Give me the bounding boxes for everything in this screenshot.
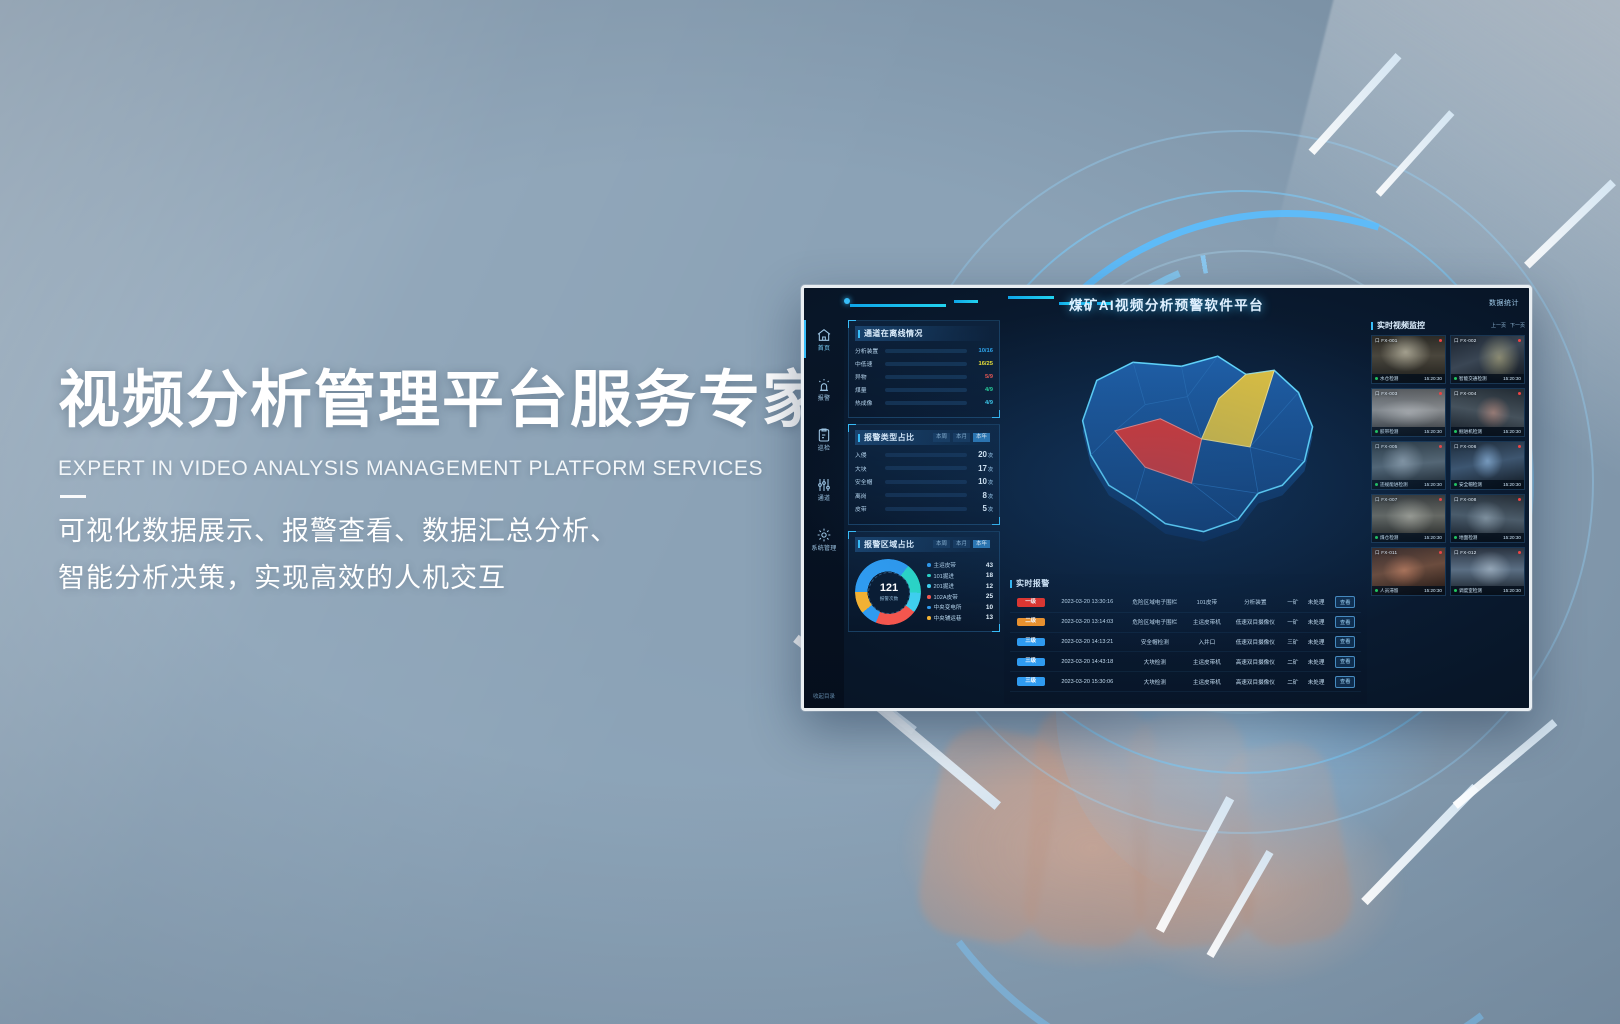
record-indicator-icon: [1439, 339, 1442, 342]
video-timestamp: 15:20:30: [1424, 376, 1442, 381]
alarm-type-track: [885, 480, 967, 484]
dashboard-topbar: 煤矿AI视频分析预警软件平台 数据统计: [804, 288, 1529, 316]
record-indicator-icon: [1439, 392, 1442, 395]
video-tile[interactable]: 口 FX-011人员滞留15:20:30: [1371, 547, 1446, 596]
alarm-type-row: 入侵20次: [855, 450, 993, 459]
video-name-wrap: 水仓检测: [1375, 376, 1398, 382]
video-name-wrap: 地面检测: [1454, 535, 1477, 541]
alarm-area: 主运皮带机: [1186, 672, 1227, 692]
alarm-type-track: [885, 507, 967, 511]
type-panel-tabs: 本周本月本年: [933, 433, 990, 442]
channel-row: 热成像4/9: [855, 398, 993, 407]
donut-legend-item: 102A皮带25: [927, 593, 993, 601]
alarm-status: 未处理: [1303, 593, 1330, 612]
channel-value: 4/9: [971, 387, 993, 393]
sidebar-item-1[interactable]: 报警: [804, 364, 844, 414]
video-name: 违规能进检测: [1380, 482, 1408, 488]
alarm-type-name: 大块: [855, 464, 881, 473]
video-footer: 水仓检测15:20:30: [1372, 374, 1445, 383]
alarm-type: 安全帽检测: [1123, 632, 1186, 652]
video-panel-title-wrap: 实时视频监控: [1371, 320, 1425, 331]
sidebar-item-label: 报警: [818, 396, 831, 402]
channel-panel-title: 通道在离线情况: [864, 328, 923, 339]
online-status-dot: [1375, 536, 1378, 539]
table-row: 一级2023-03-20 13:30:16危险区域电子围栏101皮带分析装置一矿…: [1010, 593, 1361, 612]
area-panel-tabs: 本周本月本年: [933, 540, 990, 549]
donut-center-caption: 报警次数: [880, 596, 898, 602]
alarm-level-badge: 三级: [1010, 632, 1051, 652]
dashboard-screen: 煤矿AI视频分析预警软件平台 数据统计 首页报警巡检通道系统管理 通道在离线情况…: [804, 288, 1529, 708]
video-timestamp: 15:20:30: [1503, 588, 1521, 593]
unit-label: 次: [988, 494, 993, 500]
view-button[interactable]: 查看: [1335, 616, 1355, 628]
title-bar-icon: [858, 540, 860, 548]
alarm-action[interactable]: 查看: [1330, 612, 1362, 632]
legend-color-dot: [927, 606, 931, 610]
alarm-type: 危险区域电子围栏: [1123, 612, 1186, 632]
donut-chart-wrap: 121 报警次数 主运皮带43101掘进18201掘进12102A皮带25中央变…: [855, 557, 993, 625]
online-status-dot: [1375, 589, 1378, 592]
donut-chart: 121 报警次数: [855, 559, 921, 625]
alarm-mine: 二矿: [1283, 652, 1303, 672]
record-indicator-icon: [1518, 339, 1521, 342]
donut-legend-item: 主运皮带43: [927, 561, 993, 569]
video-tile[interactable]: 口 FX-006安全帽检测15:20:30: [1450, 441, 1525, 490]
video-timestamp: 15:20:30: [1424, 588, 1442, 593]
video-id: 口 FX-008: [1454, 497, 1477, 503]
unit-label: 次: [988, 480, 993, 486]
table-row: 三级2023-03-20 14:13:21安全帽检测入井口低速双目摄像仪三矿未处…: [1010, 632, 1361, 652]
video-tile[interactable]: 口 FX-008地面检测15:20:30: [1450, 494, 1525, 543]
online-status-dot: [1454, 430, 1457, 433]
status-badge: 三级: [1017, 677, 1045, 685]
sidebar-item-label: 首页: [818, 346, 831, 352]
status-badge: 三级: [1017, 638, 1045, 646]
video-tile[interactable]: 口 FX-005违规能进检测15:20:30: [1371, 441, 1446, 490]
sliders-icon: [816, 477, 832, 493]
online-status-dot: [1454, 377, 1457, 380]
video-name-wrap: 调度室检测: [1454, 588, 1482, 594]
channel-bar-track: [885, 349, 967, 353]
video-footer: 安全帽检测15:20:30: [1451, 480, 1524, 489]
alarm-type-name: 安全帽: [855, 477, 881, 486]
channel-row: 分析装置10/16: [855, 346, 993, 355]
alarm-type-track: [885, 493, 967, 497]
alarm-mine: 二矿: [1283, 672, 1303, 692]
video-monitor-panel: 实时视频监控 上一页 下一页 口 FX-001水仓检测15:20:30口 FX-…: [1371, 320, 1525, 704]
channel-name: 分析装置: [855, 346, 881, 355]
channel-name: 异物: [855, 372, 881, 381]
video-timestamp: 15:20:30: [1424, 429, 1442, 434]
type-tab-2[interactable]: 本年: [973, 433, 990, 442]
alarm-status: 未处理: [1303, 672, 1330, 692]
record-indicator-icon: [1439, 498, 1442, 501]
video-tile[interactable]: 口 FX-002智能交通检测15:20:30: [1450, 335, 1525, 384]
alarm-area: 主运皮带机: [1186, 652, 1227, 672]
video-name-wrap: 智能交通检测: [1454, 376, 1487, 382]
title-bar-icon: [1010, 580, 1012, 588]
topbar-right-label[interactable]: 数据统计: [1489, 298, 1519, 308]
alarm-level-badge: 二级: [1010, 612, 1051, 632]
unit-label: 次: [988, 467, 993, 473]
type-tab-1[interactable]: 本月: [953, 433, 970, 442]
legend-color-dot: [927, 616, 931, 620]
video-name: 煤仓检测: [1380, 535, 1398, 541]
record-indicator-icon: [1518, 551, 1521, 554]
channel-value: 10/16: [971, 348, 993, 354]
alarm-action[interactable]: 查看: [1330, 672, 1362, 692]
alarm-type: 大块检测: [1123, 672, 1186, 692]
legend-color-dot: [927, 563, 931, 567]
donut-legend-item: 中央变电所10: [927, 603, 993, 611]
panel-header: 报警类型占比 本周本月本年: [855, 430, 993, 445]
channel-bar-track: [885, 388, 967, 392]
video-name-wrap: 人员滞留: [1375, 588, 1398, 594]
alarm-area: 入井口: [1186, 632, 1227, 652]
type-panel-title-wrap: 报警类型占比: [858, 432, 914, 443]
channel-bar-track: [885, 362, 967, 366]
alarm-time: 2023-03-20 14:43:18: [1051, 652, 1123, 672]
channel-bar-track: [885, 401, 967, 405]
video-timestamp: 15:20:30: [1503, 376, 1521, 381]
video-footer: 智能交通检测15:20:30: [1451, 374, 1524, 383]
video-footer: 掘进机检测15:20:30: [1451, 427, 1524, 436]
sidebar: 首页报警巡检通道系统管理: [804, 314, 844, 708]
alarm-type-name: 皮带: [855, 504, 881, 513]
panel-header: 报警区域占比 本周本月本年: [855, 537, 993, 552]
legend-value: 25: [986, 593, 993, 600]
video-name-wrap: 煤仓检测: [1375, 535, 1398, 541]
legend-value: 12: [986, 583, 993, 590]
app-title: 煤矿AI视频分析预警软件平台: [804, 294, 1529, 314]
legend-value: 13: [986, 614, 993, 621]
video-tile[interactable]: 口 FX-003胶带检测15:20:30: [1371, 388, 1446, 437]
donut-legend-item: 101掘进18: [927, 572, 993, 580]
donut-legend-item: 中央辅运巷13: [927, 614, 993, 622]
video-id: 口 FX-007: [1375, 497, 1398, 503]
unit-label: 次: [988, 507, 993, 513]
sidebar-item-3[interactable]: 通道: [804, 464, 844, 514]
legend-label: 102A皮带: [934, 593, 983, 601]
online-status-dot: [1454, 589, 1457, 592]
alarm-type-track: [885, 453, 967, 457]
alarm-type-panel: 报警类型占比 本周本月本年 入侵20次大块17次安全帽10次离岗8次皮带5次: [848, 424, 1000, 525]
divider: [60, 495, 86, 498]
alarm-type: 危险区域电子围栏: [1123, 593, 1186, 612]
alarm-panel-title: 实时报警: [1016, 578, 1050, 589]
video-timestamp: 15:20:30: [1424, 482, 1442, 487]
legend-color-dot: [927, 584, 931, 588]
record-indicator-icon: [1518, 445, 1521, 448]
alarm-type-value: 17次: [971, 464, 993, 473]
sidebar-item-2[interactable]: 巡检: [804, 414, 844, 464]
realtime-alarm-panel: 实时报警 一级2023-03-20 13:30:16危险区域电子围栏101皮带分…: [1004, 574, 1367, 704]
video-name: 水仓检测: [1380, 376, 1398, 382]
online-status-dot: [1375, 483, 1378, 486]
hero-description-line1: 可视化数据展示、报警查看、数据汇总分析、: [58, 508, 838, 555]
record-indicator-icon: [1439, 551, 1442, 554]
channel-value: 4/9: [971, 400, 993, 406]
area-panel-title: 报警区域占比: [864, 539, 914, 550]
channel-rows: 分析装置10/16中低速16/25异物5/9煤量4/9热成像4/9: [855, 346, 993, 407]
video-footer: 煤仓检测15:20:30: [1372, 533, 1445, 542]
alarm-status: 未处理: [1303, 632, 1330, 652]
alarm-time: 2023-03-20 13:14:03: [1051, 612, 1123, 632]
video-grid: 口 FX-001水仓检测15:20:30口 FX-002智能交通检测15:20:…: [1371, 335, 1525, 596]
view-button[interactable]: 查看: [1335, 676, 1355, 688]
legend-label: 201掘进: [934, 582, 983, 590]
legend-color-dot: [927, 574, 931, 578]
area-tab-0[interactable]: 本周: [933, 540, 950, 549]
channel-name: 煤量: [855, 385, 881, 394]
video-name: 地面检测: [1459, 535, 1477, 541]
video-tile[interactable]: 口 FX-007煤仓检测15:20:30: [1371, 494, 1446, 543]
channel-row: 中低速16/25: [855, 359, 993, 368]
channel-row: 煤量4/9: [855, 385, 993, 394]
video-panel-header: 实时视频监控 上一页 下一页: [1371, 320, 1525, 331]
table-row: 二级2023-03-20 13:14:03危险区域电子围栏主运皮带机低速双目摄像…: [1010, 612, 1361, 632]
alarm-status: 未处理: [1303, 612, 1330, 632]
video-footer: 人员滞留15:20:30: [1372, 586, 1445, 595]
legend-value: 10: [986, 604, 993, 611]
legend-value: 18: [986, 572, 993, 579]
record-indicator-icon: [1518, 498, 1521, 501]
area-panel-title-wrap: 报警区域占比: [858, 539, 914, 550]
video-name-wrap: 违规能进检测: [1375, 482, 1408, 488]
channel-value: 5/9: [971, 374, 993, 380]
alarm-light-icon: [816, 377, 832, 393]
alarm-type-track: [885, 466, 967, 470]
alarm-time: 2023-03-20 14:13:21: [1051, 632, 1123, 652]
table-row: 三级2023-03-20 14:43:18大块检测主运皮带机高速双目摄像仪二矿未…: [1010, 652, 1361, 672]
legend-label: 101掘进: [934, 572, 983, 580]
online-status-dot: [1454, 536, 1457, 539]
alarm-area: 101皮带: [1186, 593, 1227, 612]
alarm-mine: 一矿: [1283, 593, 1303, 612]
collapse-menu-label[interactable]: 收起目录: [810, 692, 838, 700]
channel-value: 16/25: [971, 361, 993, 367]
alarm-status: 未处理: [1303, 652, 1330, 672]
video-timestamp: 15:20:30: [1424, 535, 1442, 540]
prev-page-button[interactable]: 上一页: [1491, 322, 1506, 329]
alarm-panel-header: 实时报警: [1010, 578, 1361, 589]
donut-legend: 主运皮带43101掘进18201掘进12102A皮带25中央变电所10中央辅运巷…: [927, 561, 993, 622]
video-id: 口 FX-012: [1454, 550, 1477, 556]
donut-center-value: 121: [880, 583, 898, 594]
video-id: 口 FX-001: [1375, 338, 1398, 344]
home-icon: [816, 327, 832, 343]
alarm-time: 2023-03-20 15:30:06: [1051, 672, 1123, 692]
sidebar-item-label: 巡检: [818, 446, 831, 452]
channel-row: 异物5/9: [855, 372, 993, 381]
online-status-dot: [1375, 377, 1378, 380]
type-tab-0[interactable]: 本周: [933, 433, 950, 442]
video-footer: 胶带检测15:20:30: [1372, 427, 1445, 436]
alarm-mine: 三矿: [1283, 632, 1303, 652]
video-name: 胶带检测: [1380, 429, 1398, 435]
legend-color-dot: [927, 595, 931, 599]
alarm-device: 高速双目摄像仪: [1227, 652, 1283, 672]
type-rows: 入侵20次大块17次安全帽10次离岗8次皮带5次: [855, 450, 993, 513]
view-button[interactable]: 查看: [1335, 656, 1355, 668]
video-footer: 地面检测15:20:30: [1451, 533, 1524, 542]
video-id: 口 FX-004: [1454, 391, 1477, 397]
alarm-type-value: 5次: [971, 504, 993, 513]
unit-label: 次: [988, 453, 993, 459]
video-timestamp: 15:20:30: [1503, 482, 1521, 487]
channel-name: 热成像: [855, 398, 881, 407]
video-id: 口 FX-002: [1454, 338, 1477, 344]
online-status-dot: [1375, 430, 1378, 433]
video-footer: 违规能进检测15:20:30: [1372, 480, 1445, 489]
clipboard-check-icon: [816, 427, 832, 443]
video-footer: 调度室检测15:20:30: [1451, 586, 1524, 595]
title-bar-icon: [858, 330, 860, 338]
video-panel-title: 实时视频监控: [1377, 320, 1425, 331]
video-tile[interactable]: 口 FX-004掘进机检测15:20:30: [1450, 388, 1525, 437]
alarm-type-row: 离岗8次: [855, 491, 993, 500]
hero-subtitle: EXPERT IN VIDEO ANALYSIS MANAGEMENT PLAT…: [58, 457, 838, 481]
status-badge: 二级: [1017, 618, 1045, 626]
video-name: 智能交通检测: [1459, 376, 1487, 382]
video-timestamp: 15:20:30: [1503, 429, 1521, 434]
video-pager: 上一页 下一页: [1491, 322, 1525, 329]
gear-icon: [816, 527, 832, 543]
video-name-wrap: 安全帽检测: [1454, 482, 1482, 488]
title-bar-icon: [1371, 322, 1373, 330]
title-bar-icon: [858, 434, 860, 442]
area-tab-2[interactable]: 本年: [973, 540, 990, 549]
status-badge: 一级: [1017, 598, 1045, 606]
alarm-time: 2023-03-20 13:30:16: [1051, 593, 1123, 612]
video-name-wrap: 胶带检测: [1375, 429, 1398, 435]
hero-copy: 视频分析管理平台服务专家 EXPERT IN VIDEO ANALYSIS MA…: [58, 368, 838, 602]
alarm-type-row: 大块17次: [855, 464, 993, 473]
channel-panel-title-wrap: 通道在离线情况: [858, 328, 923, 339]
view-button[interactable]: 查看: [1335, 596, 1355, 608]
alarm-action[interactable]: 查看: [1330, 593, 1362, 612]
monitor-device: 煤矿AI视频分析预警软件平台 数据统计 首页报警巡检通道系统管理 通道在离线情况…: [801, 285, 1532, 711]
alarm-level-badge: 三级: [1010, 652, 1051, 672]
hero-banner: 视频分析管理平台服务专家 EXPERT IN VIDEO ANALYSIS MA…: [0, 0, 1620, 1024]
video-id: 口 FX-003: [1375, 391, 1398, 397]
alarm-action[interactable]: 查看: [1330, 652, 1362, 672]
alarm-type-value: 20次: [971, 450, 993, 459]
alarm-type-name: 入侵: [855, 450, 881, 459]
alarm-level-badge: 三级: [1010, 672, 1051, 692]
video-timestamp: 15:20:30: [1503, 535, 1521, 540]
video-name-wrap: 掘进机检测: [1454, 429, 1482, 435]
alarm-area-panel: 报警区域占比 本周本月本年 121 报警次数 主运皮带43101掘进1820: [848, 531, 1000, 632]
type-panel-title: 报警类型占比: [864, 432, 914, 443]
alarm-device: 高速双目摄像仪: [1227, 672, 1283, 692]
view-button[interactable]: 查看: [1335, 636, 1355, 648]
alarm-device: 低速双目摄像仪: [1227, 632, 1283, 652]
table-row: 三级2023-03-20 15:30:06大块检测主运皮带机高速双目摄像仪二矿未…: [1010, 672, 1361, 692]
video-name: 调度室检测: [1459, 588, 1482, 594]
record-indicator-icon: [1439, 445, 1442, 448]
alarm-type: 大块检测: [1123, 652, 1186, 672]
channel-name: 中低速: [855, 359, 881, 368]
alarm-area: 主运皮带机: [1186, 612, 1227, 632]
video-name: 安全帽检测: [1459, 482, 1482, 488]
hero-description-line2: 智能分析决策，实现高效的人机交互: [58, 555, 838, 602]
video-tile[interactable]: 口 FX-001水仓检测15:20:30: [1371, 335, 1446, 384]
sidebar-item-4[interactable]: 系统管理: [804, 514, 844, 564]
sidebar-item-0[interactable]: 首页: [804, 314, 844, 364]
legend-label: 中央变电所: [934, 603, 983, 611]
status-badge: 三级: [1017, 658, 1045, 666]
alarm-level-badge: 一级: [1010, 593, 1051, 612]
next-page-button[interactable]: 下一页: [1510, 322, 1525, 329]
area-tab-1[interactable]: 本月: [953, 540, 970, 549]
alarm-type-value: 8次: [971, 491, 993, 500]
alarm-device: 低速双目摄像仪: [1227, 612, 1283, 632]
alarm-type-value: 10次: [971, 477, 993, 486]
legend-value: 43: [986, 562, 993, 569]
alarm-table: 一级2023-03-20 13:30:16危险区域电子围栏101皮带分析装置一矿…: [1010, 593, 1361, 692]
alarm-mine: 一矿: [1283, 612, 1303, 632]
alarm-type-row: 皮带5次: [855, 504, 993, 513]
map-area: [1004, 320, 1367, 580]
province-map[interactable]: [1004, 320, 1367, 580]
alarm-action[interactable]: 查看: [1330, 632, 1362, 652]
record-indicator-icon: [1518, 392, 1521, 395]
video-name: 掘进机检测: [1459, 429, 1482, 435]
alarm-type-row: 安全帽10次: [855, 477, 993, 486]
donut-legend-item: 201掘进12: [927, 582, 993, 590]
video-id: 口 FX-005: [1375, 444, 1398, 450]
channel-status-panel: 通道在离线情况 分析装置10/16中低速16/25异物5/9煤量4/9热成像4/…: [848, 320, 1000, 418]
sidebar-item-label: 通道: [818, 496, 831, 502]
online-status-dot: [1454, 483, 1457, 486]
left-column: 通道在离线情况 分析装置10/16中低速16/25异物5/9煤量4/9热成像4/…: [848, 320, 1000, 702]
video-id: 口 FX-011: [1375, 550, 1397, 556]
legend-label: 中央辅运巷: [934, 614, 983, 622]
alarm-type-name: 离岗: [855, 491, 881, 500]
video-tile[interactable]: 口 FX-012调度室检测15:20:30: [1450, 547, 1525, 596]
alarm-device: 分析装置: [1227, 593, 1283, 612]
donut-center: 121 报警次数: [868, 572, 910, 614]
sidebar-item-label: 系统管理: [811, 546, 836, 552]
page-title: 视频分析管理平台服务专家: [58, 368, 838, 435]
video-id: 口 FX-006: [1454, 444, 1477, 450]
panel-header: 通道在离线情况: [855, 326, 993, 341]
video-name: 人员滞留: [1380, 588, 1398, 594]
channel-bar-track: [885, 375, 967, 379]
legend-label: 主运皮带: [934, 561, 983, 569]
